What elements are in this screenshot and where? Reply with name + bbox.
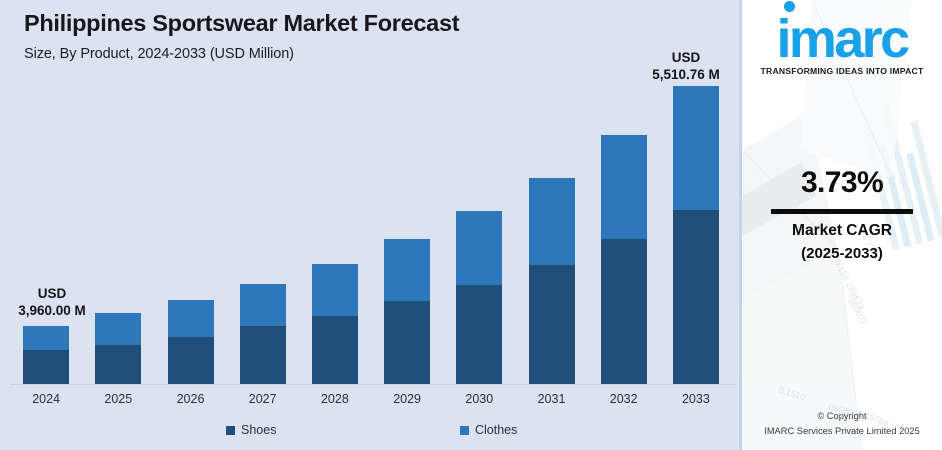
legend-item-clothes[interactable]: Clothes <box>460 423 517 437</box>
bar-group-2031[interactable] <box>529 178 575 384</box>
bar-group-2032[interactable] <box>601 135 647 384</box>
x-axis-line <box>10 384 736 385</box>
cagr-period: (2025-2033) <box>742 245 942 262</box>
bar-segment-shoes-2033[interactable] <box>673 210 719 384</box>
brand-panel: 0.151 285514 5600.0 1 2 3 4 0.1510 08680… <box>742 0 942 450</box>
bar-segment-shoes-2030[interactable] <box>456 285 502 384</box>
bar-group-2026[interactable] <box>168 300 214 384</box>
bar-segment-clothes-2024[interactable] <box>23 326 69 349</box>
page-title: Philippines Sportswear Market Forecast <box>24 10 459 37</box>
x-tick-2031: 2031 <box>519 392 585 406</box>
bar-segment-clothes-2026[interactable] <box>168 300 214 336</box>
chart-panel: Philippines Sportswear Market Forecast S… <box>0 0 742 450</box>
callout-prefix: USD <box>636 50 736 67</box>
bar-segment-clothes-2029[interactable] <box>384 239 430 302</box>
copyright-line-1: © Copyright <box>742 409 942 423</box>
chart-header: Philippines Sportswear Market Forecast S… <box>24 10 459 62</box>
bar-group-2030[interactable] <box>456 211 502 384</box>
cagr-block: 3.73% Market CAGR (2025-2033) <box>742 166 942 262</box>
bar-segment-shoes-2025[interactable] <box>95 345 141 384</box>
bar-group-2027[interactable] <box>240 284 286 384</box>
value-callout-2033: USD 5,510.76 M <box>636 50 736 84</box>
bar-segment-shoes-2024[interactable] <box>23 350 69 384</box>
cagr-value: 3.73% <box>742 166 942 200</box>
x-tick-2030: 2030 <box>446 392 512 406</box>
bar-segment-shoes-2029[interactable] <box>384 301 430 384</box>
callout-value: 5,510.76 M <box>636 67 736 84</box>
legend-swatch-shoes <box>226 426 235 435</box>
x-tick-2028: 2028 <box>302 392 368 406</box>
x-tick-2033: 2033 <box>663 392 729 406</box>
x-tick-2032: 2032 <box>591 392 657 406</box>
bar-segment-clothes-2030[interactable] <box>456 211 502 285</box>
x-axis-labels: 2024202520262027202820292030203120322033 <box>10 392 732 414</box>
x-tick-2026: 2026 <box>158 392 224 406</box>
chart-legend: Shoes Clothes <box>0 423 742 445</box>
legend-label-shoes: Shoes <box>241 423 276 437</box>
bar-group-2033[interactable] <box>673 86 719 384</box>
logo-text: imarc <box>776 9 907 69</box>
bar-segment-shoes-2026[interactable] <box>168 337 214 384</box>
legend-item-shoes[interactable]: Shoes <box>226 423 276 437</box>
bar-segment-clothes-2027[interactable] <box>240 284 286 326</box>
bar-group-2028[interactable] <box>312 264 358 384</box>
bar-group-2025[interactable] <box>95 313 141 384</box>
legend-label-clothes: Clothes <box>475 423 517 437</box>
bar-segment-shoes-2027[interactable] <box>240 326 286 384</box>
bar-segment-clothes-2032[interactable] <box>601 135 647 238</box>
logo-wordmark: imarc <box>776 14 907 65</box>
copyright-line-2: IMARC Services Private Limited 2025 <box>742 424 942 438</box>
cagr-label: Market CAGR <box>742 222 942 240</box>
x-tick-2025: 2025 <box>85 392 151 406</box>
x-tick-2029: 2029 <box>374 392 440 406</box>
cagr-divider <box>771 209 913 214</box>
infographic-root: Philippines Sportswear Market Forecast S… <box>0 0 942 450</box>
bar-segment-clothes-2033[interactable] <box>673 86 719 210</box>
bar-segment-shoes-2032[interactable] <box>601 239 647 384</box>
plot-area <box>10 86 732 384</box>
x-tick-2027: 2027 <box>230 392 296 406</box>
bar-group-2024[interactable] <box>23 326 69 384</box>
chart-subtitle: Size, By Product, 2024-2033 (USD Million… <box>24 46 459 62</box>
bar-segment-clothes-2028[interactable] <box>312 264 358 317</box>
bar-segment-clothes-2031[interactable] <box>529 178 575 265</box>
bar-segment-clothes-2025[interactable] <box>95 313 141 344</box>
bar-segment-shoes-2028[interactable] <box>312 316 358 384</box>
imarc-logo[interactable]: imarc TRANSFORMING IDEAS INTO IMPACT <box>742 14 942 76</box>
bar-segment-shoes-2031[interactable] <box>529 265 575 384</box>
copyright-notice: © Copyright IMARC Services Private Limit… <box>742 409 942 438</box>
bar-group-2029[interactable] <box>384 239 430 384</box>
legend-swatch-clothes <box>460 426 469 435</box>
x-tick-2024: 2024 <box>13 392 79 406</box>
